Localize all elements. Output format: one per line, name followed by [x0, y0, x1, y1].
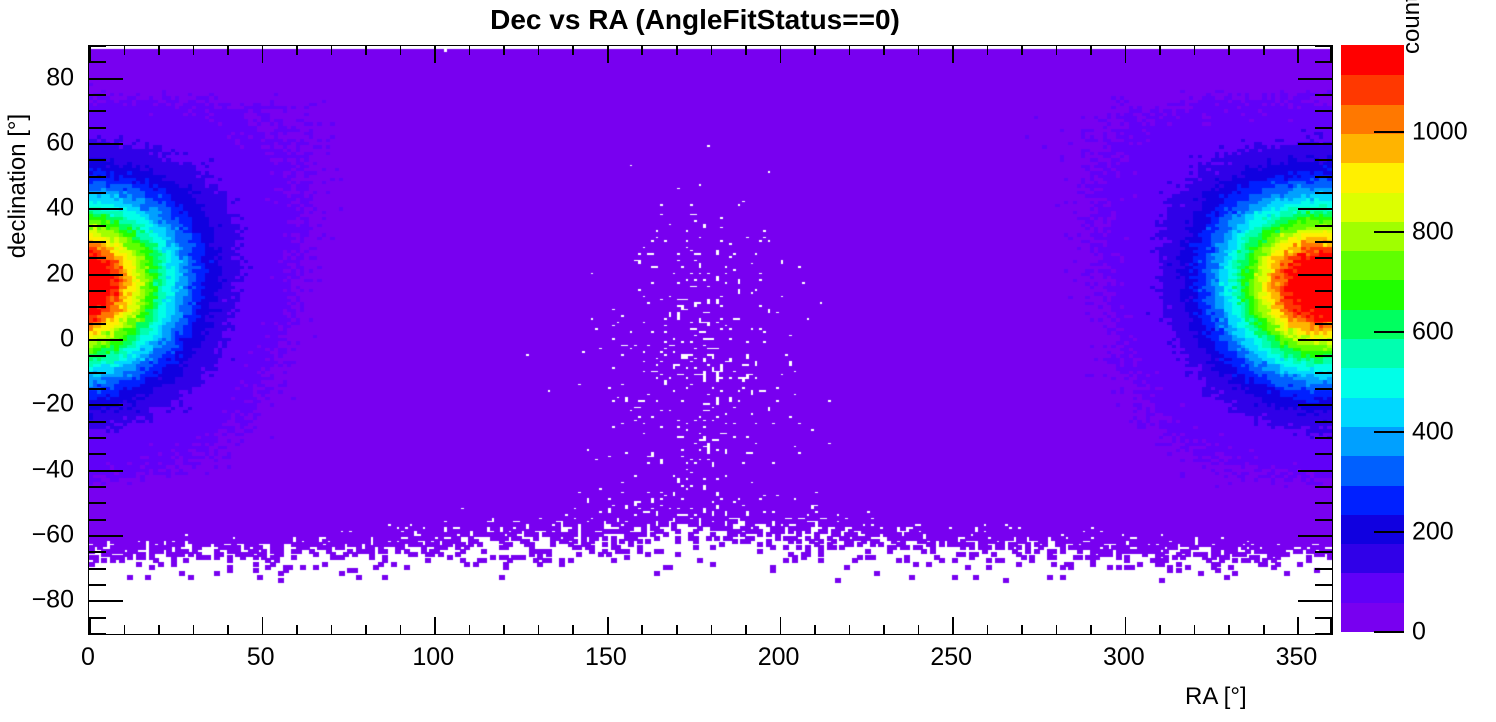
palette-band: [1341, 133, 1404, 163]
palette-band: [1341, 45, 1404, 75]
palette-band: [1341, 251, 1404, 281]
plot-frame: [88, 45, 1333, 635]
color-scale-bar: [1341, 46, 1404, 632]
palette-band: [1341, 338, 1404, 368]
palette-band: [1341, 544, 1404, 574]
palette-band: [1341, 368, 1404, 398]
palette-band: [1341, 602, 1404, 632]
y-axis-tick-label: −40: [0, 455, 74, 484]
palette-band: [1341, 75, 1404, 105]
z-axis-tick-label: 800: [1412, 218, 1454, 247]
palette-band: [1341, 280, 1404, 310]
x-axis-tick-label: 300: [1103, 643, 1145, 672]
palette-band: [1341, 426, 1404, 456]
z-axis-tick-label: 200: [1412, 518, 1454, 547]
z-axis-tick-label: 1000: [1412, 118, 1468, 147]
y-axis-tick-label: −60: [0, 521, 74, 550]
x-axis-tick-label: 100: [412, 643, 454, 672]
x-axis-tick-label: 0: [81, 643, 95, 672]
x-axis-tick-label: 250: [930, 643, 972, 672]
z-axis-tick-label: 600: [1412, 318, 1454, 347]
histogram-canvas: [89, 46, 1332, 634]
palette-band: [1341, 397, 1404, 427]
y-axis-tick-label: −80: [0, 586, 74, 615]
palette-band: [1341, 221, 1404, 251]
palette-band: [1341, 309, 1404, 339]
z-axis-tick-label: 400: [1412, 418, 1454, 447]
plot-canvas-root: Dec vs RA (AngleFitStatus==0) −80−60−40−…: [0, 0, 1496, 722]
palette-band: [1341, 573, 1404, 603]
palette-band: [1341, 456, 1404, 486]
palette-band: [1341, 192, 1404, 222]
palette-band: [1341, 514, 1404, 544]
palette-band: [1341, 163, 1404, 193]
x-axis-tick-label: 50: [247, 643, 275, 672]
z-axis-tick-label: 0: [1412, 618, 1426, 647]
y-axis-title: declination [°]: [4, 56, 32, 316]
x-axis-tick-label: 150: [585, 643, 627, 672]
palette-band: [1341, 485, 1404, 515]
page-title: Dec vs RA (AngleFitStatus==0): [0, 4, 1390, 36]
y-axis-tick-label: −20: [0, 390, 74, 419]
palette-band: [1341, 104, 1404, 134]
x-axis-tick-label: 200: [758, 643, 800, 672]
x-axis-title: RA [°]: [1185, 683, 1247, 711]
y-axis-tick-label: 0: [0, 325, 74, 354]
x-axis-tick-label: 350: [1276, 643, 1318, 672]
